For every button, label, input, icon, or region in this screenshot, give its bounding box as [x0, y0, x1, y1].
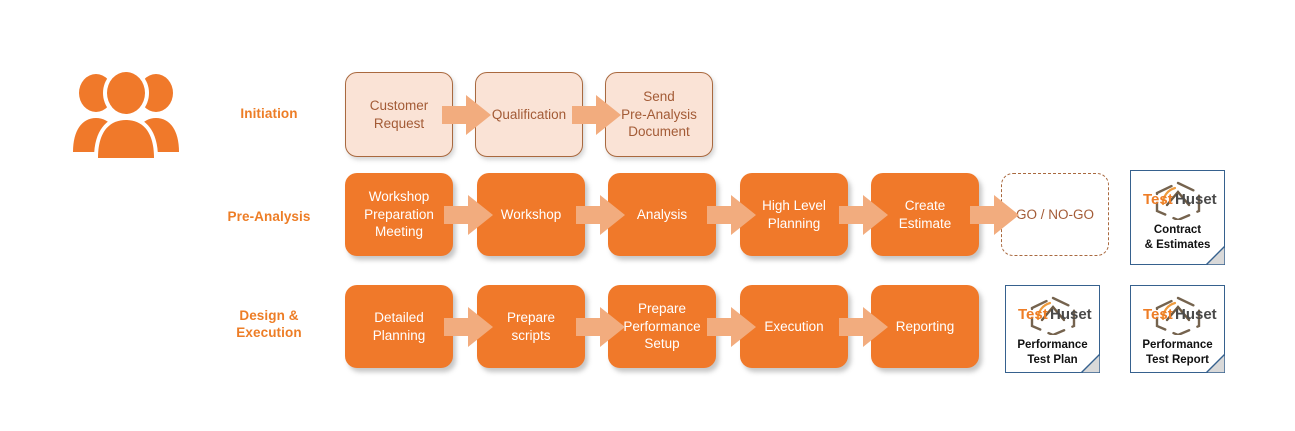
arrow-design-2 — [574, 305, 628, 349]
arrow-pre-analysis-1 — [442, 193, 496, 237]
step-label-line: Planning — [762, 215, 826, 233]
row-label-line: Pre-Analysis — [194, 208, 344, 225]
document-contract-estimates[interactable]: Test Huset Contract & Estimates — [1130, 170, 1225, 265]
page-fold-icon — [1081, 354, 1100, 373]
step-label-line: Preparation — [364, 206, 434, 224]
svg-text:Huset: Huset — [1175, 191, 1217, 208]
step-label-line: Reporting — [896, 318, 955, 336]
row-label-line: Design & — [194, 307, 344, 324]
process-flow-diagram: Initiation Pre-Analysis Design & Executi… — [0, 0, 1295, 431]
step-label-line: scripts — [507, 327, 555, 345]
row-label-line: Execution — [194, 324, 344, 341]
step-label-line: Meeting — [364, 223, 434, 241]
arrow-design-1 — [442, 305, 496, 349]
svg-text:Test: Test — [1143, 306, 1173, 323]
svg-text:Huset: Huset — [1050, 306, 1092, 323]
step-label-line: Create — [899, 197, 952, 215]
step-workshop-preparation-meeting[interactable]: Workshop Preparation Meeting — [345, 173, 453, 256]
row-label-pre-analysis: Pre-Analysis — [194, 208, 344, 225]
svg-text:Test: Test — [1018, 306, 1048, 323]
arrow-initiation-1 — [440, 93, 494, 137]
step-label-line: Performance — [623, 318, 700, 336]
row-label-line: Initiation — [194, 105, 344, 122]
step-label-line: Customer — [370, 97, 429, 115]
step-label-line: Workshop — [501, 206, 562, 224]
step-label-line: Qualification — [492, 106, 566, 124]
arrow-design-3 — [705, 305, 759, 349]
step-label-line: Analysis — [637, 206, 687, 224]
step-label-line: Setup — [623, 335, 700, 353]
step-label-line: Send — [621, 88, 697, 106]
step-label-line: Prepare — [623, 300, 700, 318]
step-label-line: Prepare — [507, 309, 555, 327]
testhuset-logo: Test Huset — [1006, 293, 1099, 335]
decision-label: GO / NO-GO — [1016, 206, 1094, 224]
step-label-line: Pre-Analysis — [621, 106, 697, 124]
arrow-pre-analysis-3 — [705, 193, 759, 237]
row-label-initiation: Initiation — [194, 105, 344, 122]
step-label-line: Execution — [764, 318, 823, 336]
document-performance-test-report[interactable]: Test Huset Performance Test Report — [1130, 285, 1225, 373]
step-customer-request[interactable]: Customer Request — [345, 72, 453, 157]
step-label-line: Estimate — [899, 215, 952, 233]
step-label-line: Detailed — [373, 309, 426, 327]
testhuset-logo: Test Huset — [1131, 293, 1224, 335]
document-title-line: Performance — [1010, 338, 1095, 353]
row-label-design-execution: Design & Execution — [194, 307, 344, 341]
step-label-line: Planning — [373, 327, 426, 345]
page-fold-icon — [1206, 354, 1225, 373]
step-label-line: Request — [370, 115, 429, 133]
svg-text:Huset: Huset — [1175, 306, 1217, 323]
people-group-icon — [70, 66, 182, 160]
document-title-line: Performance — [1135, 338, 1220, 353]
document-title-line: Contract — [1135, 223, 1220, 238]
page-fold-icon — [1206, 246, 1225, 265]
testhuset-logo: Test Huset — [1131, 178, 1224, 220]
arrow-pre-analysis-4 — [837, 193, 891, 237]
arrow-pre-analysis-5 — [968, 193, 1022, 237]
arrow-pre-analysis-2 — [574, 193, 628, 237]
svg-text:Test: Test — [1143, 191, 1173, 208]
step-detailed-planning[interactable]: Detailed Planning — [345, 285, 453, 368]
step-label-line: High Level — [762, 197, 826, 215]
arrow-design-4 — [837, 305, 891, 349]
step-label-line: Document — [621, 123, 697, 141]
step-label-line: Workshop — [364, 188, 434, 206]
document-performance-test-plan[interactable]: Test Huset Performance Test Plan — [1005, 285, 1100, 373]
arrow-initiation-2 — [570, 93, 624, 137]
